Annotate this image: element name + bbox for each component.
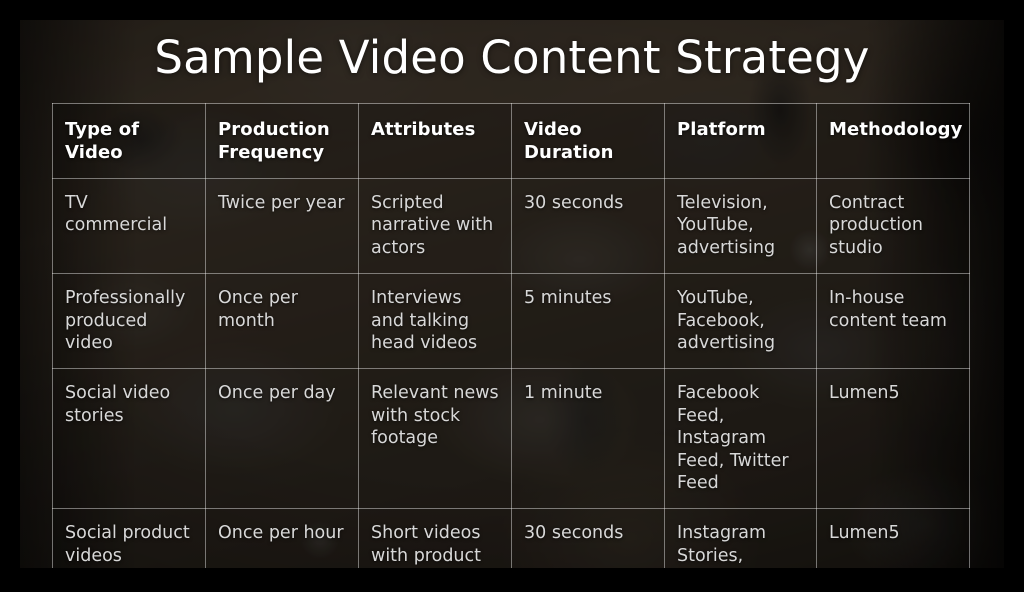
column-header-platform: Platform	[665, 104, 817, 179]
table-row: TV commercial Twice per year Scripted na…	[53, 179, 970, 274]
cell-type-of-video: Professionally produced video	[53, 274, 206, 369]
cell-methodology: Contract production studio	[817, 179, 970, 274]
column-header-type-of-video: Type of Video	[53, 104, 206, 179]
cell-video-duration: 5 minutes	[512, 274, 665, 369]
cell-production-frequency: Once per month	[206, 274, 359, 369]
letterbox-top	[0, 0, 1024, 20]
cell-type-of-video: Social product videos	[53, 509, 206, 568]
cell-attributes: Short videos with product photos	[359, 509, 512, 568]
cell-platform: YouTube, Facebook, advertising	[665, 274, 817, 369]
column-header-video-duration: Video Duration	[512, 104, 665, 179]
cell-video-duration: 1 minute	[512, 369, 665, 509]
cell-methodology: In-house content team	[817, 274, 970, 369]
cell-platform: Television, YouTube, advertising	[665, 179, 817, 274]
table-row: Professionally produced video Once per m…	[53, 274, 970, 369]
letterbox-right	[1004, 0, 1024, 592]
cell-production-frequency: Once per day	[206, 369, 359, 509]
cell-platform: Instagram Stories, Snapchat Stories	[665, 509, 817, 568]
table-header-row: Type of Video Production Frequency Attri…	[53, 104, 970, 179]
column-header-methodology: Methodology	[817, 104, 970, 179]
cell-type-of-video: Social video stories	[53, 369, 206, 509]
cell-attributes: Interviews and talking head videos	[359, 274, 512, 369]
column-header-attributes: Attributes	[359, 104, 512, 179]
table-header: Type of Video Production Frequency Attri…	[53, 104, 970, 179]
cell-type-of-video: TV commercial	[53, 179, 206, 274]
cell-production-frequency: Once per hour	[206, 509, 359, 568]
cell-methodology: Lumen5	[817, 369, 970, 509]
table-row: Social video stories Once per day Releva…	[53, 369, 970, 509]
cell-platform: Facebook Feed, Instagram Feed, Twitter F…	[665, 369, 817, 509]
cell-video-duration: 30 seconds	[512, 179, 665, 274]
column-header-production-frequency: Production Frequency	[206, 104, 359, 179]
cell-attributes: Scripted narrative with actors	[359, 179, 512, 274]
cell-production-frequency: Twice per year	[206, 179, 359, 274]
cell-attributes: Relevant news with stock footage	[359, 369, 512, 509]
letterbox-left	[0, 0, 20, 592]
letterbox-bottom	[0, 568, 1024, 592]
slide-frame: Sample Video Content Strategy Type of Vi…	[0, 0, 1024, 592]
slide-canvas: Sample Video Content Strategy Type of Vi…	[20, 20, 1004, 568]
cell-methodology: Lumen5	[817, 509, 970, 568]
video-strategy-table: Type of Video Production Frequency Attri…	[52, 103, 970, 568]
table-row: Social product videos Once per hour Shor…	[53, 509, 970, 568]
page-title: Sample Video Content Strategy	[20, 34, 1004, 83]
table-body: TV commercial Twice per year Scripted na…	[53, 179, 970, 568]
cell-video-duration: 30 seconds	[512, 509, 665, 568]
